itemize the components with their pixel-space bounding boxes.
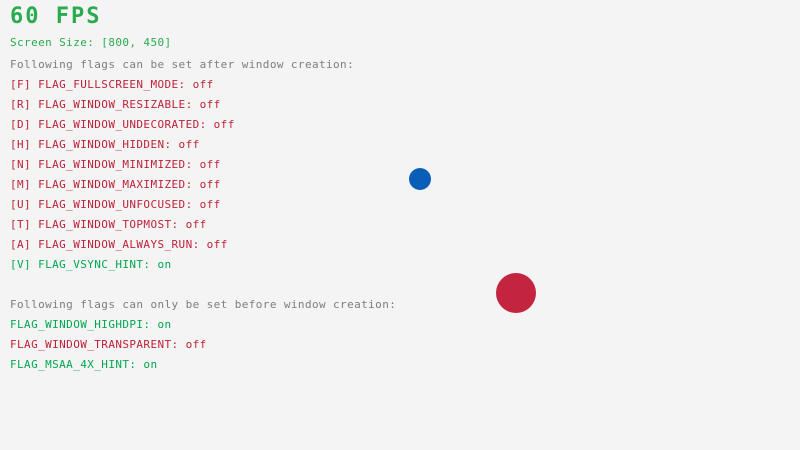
flag-row[interactable]: [T] FLAG_WINDOW_TOPMOST: off: [10, 219, 207, 230]
flag-shortcut-key: [U]: [10, 198, 38, 211]
flag-row[interactable]: [N] FLAG_WINDOW_MINIMIZED: off: [10, 159, 221, 170]
flag-value: off: [179, 338, 207, 351]
flag-name: FLAG_WINDOW_TOPMOST:: [38, 218, 178, 231]
flag-row[interactable]: [U] FLAG_WINDOW_UNFOCUSED: off: [10, 199, 221, 210]
flag-row[interactable]: [F] FLAG_FULLSCREEN_MODE: off: [10, 79, 214, 90]
fps-counter: 60 FPS: [10, 6, 101, 28]
flag-name: FLAG_WINDOW_ALWAYS_RUN:: [38, 238, 200, 251]
flag-name: FLAG_WINDOW_HIGHDPI:: [10, 318, 150, 331]
section-header-after-creation: Following flags can be set after window …: [10, 59, 354, 70]
flag-shortcut-key: [F]: [10, 78, 38, 91]
flag-name: FLAG_FULLSCREEN_MODE:: [38, 78, 185, 91]
flag-shortcut-key: [N]: [10, 158, 38, 171]
raylib-window-canvas[interactable]: 60 FPS Screen Size: [800, 450] Following…: [0, 0, 800, 450]
flag-shortcut-key: [H]: [10, 138, 38, 151]
blue-circle: [409, 168, 431, 190]
flag-shortcut-key: [A]: [10, 238, 38, 251]
flag-name: FLAG_WINDOW_MINIMIZED:: [38, 158, 193, 171]
flag-row[interactable]: [D] FLAG_WINDOW_UNDECORATED: off: [10, 119, 235, 130]
flag-name: FLAG_MSAA_4X_HINT:: [10, 358, 136, 371]
flag-shortcut-key: [D]: [10, 118, 38, 131]
flag-value: on: [150, 258, 171, 271]
flag-shortcut-key: [T]: [10, 218, 38, 231]
flag-name: FLAG_WINDOW_UNDECORATED:: [38, 118, 207, 131]
flag-shortcut-key: [M]: [10, 178, 38, 191]
flag-name: FLAG_VSYNC_HINT:: [38, 258, 150, 271]
flag-row[interactable]: FLAG_WINDOW_HIGHDPI: on: [10, 319, 172, 330]
flag-name: FLAG_WINDOW_RESIZABLE:: [38, 98, 193, 111]
flag-row[interactable]: [V] FLAG_VSYNC_HINT: on: [10, 259, 172, 270]
flag-row[interactable]: [H] FLAG_WINDOW_HIDDEN: off: [10, 139, 200, 150]
section-header-before-creation: Following flags can only be set before w…: [10, 299, 396, 310]
flag-name: FLAG_WINDOW_UNFOCUSED:: [38, 198, 193, 211]
flag-value: on: [136, 358, 157, 371]
flag-shortcut-key: [R]: [10, 98, 38, 111]
flag-value: on: [150, 318, 171, 331]
flag-value: off: [193, 98, 221, 111]
screen-size-label: Screen Size: [800, 450]: [10, 37, 172, 48]
flag-name: FLAG_WINDOW_HIDDEN:: [38, 138, 171, 151]
flag-row[interactable]: FLAG_WINDOW_TRANSPARENT: off: [10, 339, 207, 350]
flag-row[interactable]: [R] FLAG_WINDOW_RESIZABLE: off: [10, 99, 221, 110]
flag-value: off: [193, 158, 221, 171]
flag-value: off: [200, 238, 228, 251]
flag-row[interactable]: [A] FLAG_WINDOW_ALWAYS_RUN: off: [10, 239, 228, 250]
red-circle: [496, 273, 536, 313]
flag-name: FLAG_WINDOW_TRANSPARENT:: [10, 338, 179, 351]
flag-shortcut-key: [V]: [10, 258, 38, 271]
flag-value: off: [179, 218, 207, 231]
flag-name: FLAG_WINDOW_MAXIMIZED:: [38, 178, 193, 191]
flag-value: off: [193, 198, 221, 211]
flag-row[interactable]: FLAG_MSAA_4X_HINT: on: [10, 359, 157, 370]
flag-row[interactable]: [M] FLAG_WINDOW_MAXIMIZED: off: [10, 179, 221, 190]
flag-value: off: [186, 78, 214, 91]
flag-value: off: [193, 178, 221, 191]
flag-value: off: [172, 138, 200, 151]
flag-value: off: [207, 118, 235, 131]
